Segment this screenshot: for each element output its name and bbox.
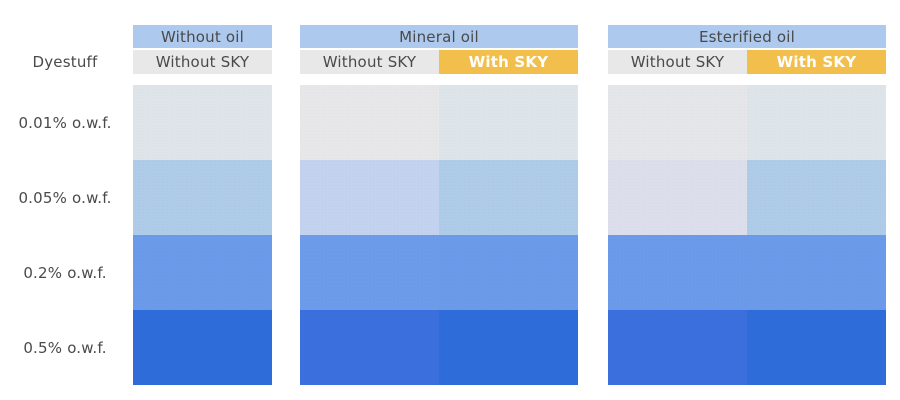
- swatch-column: [747, 85, 886, 385]
- fabric-swatch: [608, 85, 747, 160]
- fabric-swatch: [133, 235, 272, 310]
- subheader-with-sky: With SKY: [747, 50, 886, 74]
- fabric-swatch: [439, 160, 578, 235]
- subheader-with-sky: With SKY: [439, 50, 578, 74]
- fabric-swatch: [133, 160, 272, 235]
- dyestuff-header-label: Dyestuff: [0, 50, 130, 74]
- fabric-swatch: [300, 235, 439, 310]
- subheader-without-sky: Without SKY: [133, 50, 272, 74]
- fabric-swatch: [747, 85, 886, 160]
- fabric-swatch: [300, 160, 439, 235]
- swatch-column: [300, 85, 439, 385]
- swatch-column: [608, 85, 747, 385]
- fabric-swatch: [439, 310, 578, 385]
- panel: Mineral oilWithout SKYWith SKY: [300, 25, 578, 74]
- swatch-grid: [133, 85, 272, 385]
- panel-title: Without oil: [133, 25, 272, 48]
- fabric-swatch: [300, 85, 439, 160]
- subheader-without-sky: Without SKY: [300, 50, 439, 74]
- fabric-swatch: [439, 85, 578, 160]
- panel: Without oilWithout SKY: [133, 25, 272, 74]
- fabric-swatch: [300, 310, 439, 385]
- panel-title: Esterified oil: [608, 25, 886, 48]
- fabric-swatch: [439, 235, 578, 310]
- dye-shade-comparison-figure: Dyestuff 0.01% o.w.f.0.05% o.w.f.0.2% o.…: [0, 0, 900, 400]
- fabric-swatch: [133, 310, 272, 385]
- fabric-swatch: [608, 235, 747, 310]
- swatch-column: [439, 85, 578, 385]
- row-label: 0.5% o.w.f.: [0, 310, 130, 385]
- fabric-swatch: [608, 310, 747, 385]
- fabric-swatch: [747, 235, 886, 310]
- fabric-swatch: [747, 310, 886, 385]
- row-label: 0.01% o.w.f.: [0, 85, 130, 160]
- subheader-row: Without SKY: [133, 50, 272, 74]
- swatch-column: [133, 85, 272, 385]
- fabric-swatch: [133, 85, 272, 160]
- subheader-row: Without SKYWith SKY: [608, 50, 886, 74]
- subheader-without-sky: Without SKY: [608, 50, 747, 74]
- swatch-grid: [608, 85, 886, 385]
- panel: Esterified oilWithout SKYWith SKY: [608, 25, 886, 74]
- row-label: 0.05% o.w.f.: [0, 160, 130, 235]
- panel-title: Mineral oil: [300, 25, 578, 48]
- fabric-swatch: [747, 160, 886, 235]
- row-label: 0.2% o.w.f.: [0, 235, 130, 310]
- fabric-swatch: [608, 160, 747, 235]
- swatch-grid: [300, 85, 578, 385]
- subheader-row: Without SKYWith SKY: [300, 50, 578, 74]
